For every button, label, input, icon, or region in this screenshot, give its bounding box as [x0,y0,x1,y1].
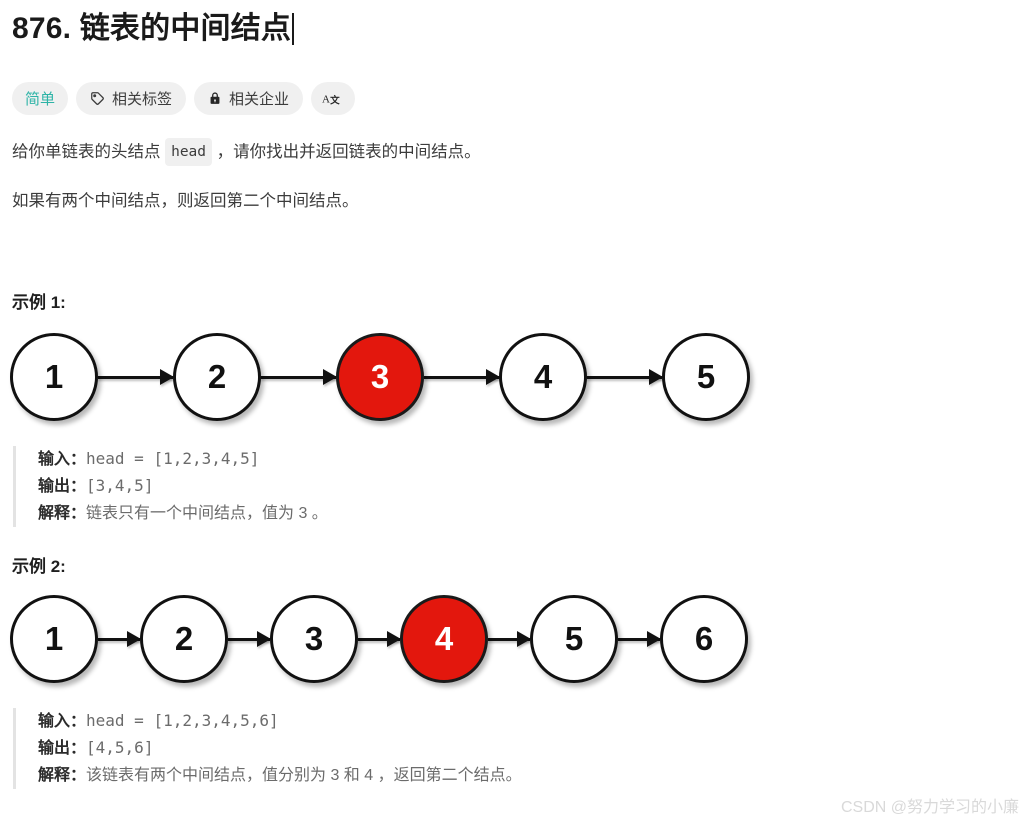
list-node: 4 [499,333,587,421]
difficulty-label: 简单 [25,88,55,109]
output-label: 输出： [38,740,86,757]
arrow-icon [424,370,499,384]
example-1-heading: 示例 1: [12,288,66,313]
svg-text:文: 文 [329,94,340,106]
example-2-output-line: 输出：[4,5,6] [38,735,522,762]
list-node: 5 [662,333,750,421]
input-value: head = [1,2,3,4,5] [86,449,259,468]
explanation-label: 解释： [38,767,86,784]
related-tags-button[interactable]: 相关标签 [76,82,186,115]
explanation-value: 该链表有两个中间结点，值分别为 3 和 4 ，返回第二个结点。 [86,767,522,784]
example-1-io-block: 输入：head = [1,2,3,4,5] 输出：[3,4,5] 解释：链表只有… [13,446,328,527]
related-companies-label: 相关企业 [229,88,289,109]
arrow-icon [488,632,530,646]
example-2-explanation-line: 解释：该链表有两个中间结点，值分别为 3 和 4 ，返回第二个结点。 [38,762,522,789]
input-label: 输入： [38,451,86,468]
arrow-icon [228,632,270,646]
list-node: 2 [140,595,228,683]
list-node: 5 [530,595,618,683]
output-label: 输出： [38,478,86,495]
linked-list-diagram-example-2: 1 2 3 4 5 6 [10,595,748,683]
list-node: 3 [270,595,358,683]
example-1-output-line: 输出：[3,4,5] [38,473,328,500]
list-node-highlighted: 3 [336,333,424,421]
translate-button[interactable]: A 文 [311,82,355,115]
page-title: 876. 链表的中间结点 [12,8,294,50]
description-paragraph-2: 如果有两个中间结点，则返回第二个中间结点。 [12,188,359,214]
related-tags-label: 相关标签 [112,88,172,109]
list-node-highlighted: 4 [400,595,488,683]
related-companies-button[interactable]: 相关企业 [194,82,303,115]
arrow-icon [98,370,173,384]
list-node: 6 [660,595,748,683]
svg-text:A: A [322,93,330,105]
translate-icon: A 文 [322,91,344,107]
description-paragraph-1: 给你单链表的头结点 head ，请你找出并返回链表的中间结点。 [12,138,481,166]
difficulty-badge[interactable]: 简单 [12,82,68,115]
example-2-input-line: 输入：head = [1,2,3,4,5,6] [38,708,522,735]
text-caret [292,13,294,45]
output-value: [3,4,5] [86,476,153,495]
page-title-text: 876. 链表的中间结点 [12,8,291,50]
arrow-icon [618,632,660,646]
list-node: 2 [173,333,261,421]
desc-text-before: 给你单链表的头结点 [12,143,165,161]
example-2-heading: 示例 2: [12,552,66,577]
arrow-icon [98,632,140,646]
desc-text-after: ，请你找出并返回链表的中间结点。 [212,143,481,161]
input-value: head = [1,2,3,4,5,6] [86,711,279,730]
explanation-label: 解释： [38,505,86,522]
list-node: 1 [10,333,98,421]
arrow-icon [261,370,336,384]
explanation-value: 链表只有一个中间结点，值为 3 。 [86,505,328,522]
example-1-input-line: 输入：head = [1,2,3,4,5] [38,446,328,473]
badge-row: 简单 相关标签 相关企业 A 文 [12,82,355,115]
list-node: 1 [10,595,98,683]
head-inline-code: head [165,138,212,166]
linked-list-diagram-example-1: 1 2 3 4 5 [10,333,750,421]
example-1-explanation-line: 解释：链表只有一个中间结点，值为 3 。 [38,500,328,527]
tag-icon [90,91,105,106]
lock-icon [208,91,222,106]
output-value: [4,5,6] [86,738,153,757]
input-label: 输入： [38,713,86,730]
arrow-icon [358,632,400,646]
example-2-io-block: 输入：head = [1,2,3,4,5,6] 输出：[4,5,6] 解释：该链… [13,708,522,789]
csdn-watermark: CSDN @努力学习的小廉 [841,793,1019,817]
arrow-icon [587,370,662,384]
